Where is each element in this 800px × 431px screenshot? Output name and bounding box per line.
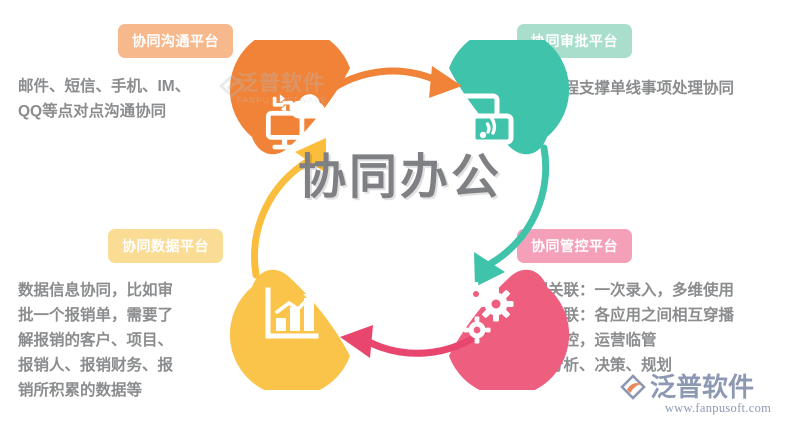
infographic-canvas: 协同沟通平台 协同审批平台 协同数据平台 协同管控平台 邮件、短信、手机、IM、… [0, 0, 800, 431]
cycle-diagram [200, 40, 600, 390]
description-data: 数据信息协同，比如审 批一个报销单，需要了 解报销的客户、项目、 报销人、报销财… [18, 278, 223, 403]
brand-row: 泛普软件 [620, 372, 790, 402]
brand-url: www.fanpusoft.com [620, 401, 790, 416]
brand-name: 泛普软件 [650, 372, 754, 402]
brand-mark-icon [620, 374, 646, 400]
page-title: 协同办公 [270, 148, 530, 208]
brand-logo: 泛普软件 www.fanpusoft.com [620, 372, 790, 422]
